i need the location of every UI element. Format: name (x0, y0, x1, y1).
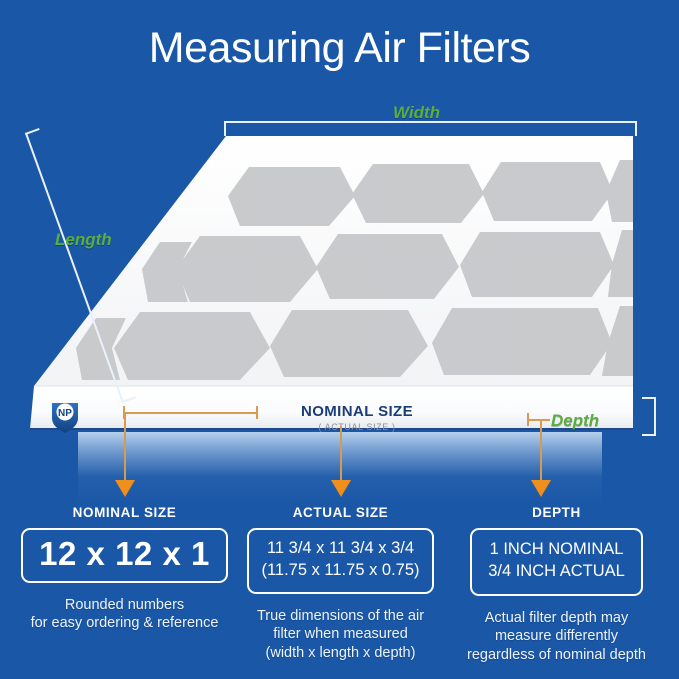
width-label: Width (393, 103, 440, 123)
column-actual-size: ACTUAL SIZE 11 3/4 x 11 3/4 x 3/4 (11.75… (233, 505, 448, 662)
nominal-size-value-line-1: 12 x 12 x 1 (39, 536, 210, 572)
actual-size-caption-line-3: (width x length x depth) (233, 644, 448, 663)
nominal-size-callout: NOMINAL SIZE ( ACTUAL SIZE ) (262, 403, 452, 432)
depth-caption-line-1: Actual filter depth may (444, 609, 669, 628)
filter-top-face (34, 136, 633, 386)
arrow-shaft-depth (540, 419, 542, 482)
nominal-size-caption-line-2: for easy ordering & reference (12, 614, 237, 633)
depth-value-line-2: 3/4 INCH ACTUAL (488, 561, 625, 583)
arrow-shaft-actual (340, 426, 342, 482)
nominal-size-callout-secondary: ( ACTUAL SIZE ) (262, 422, 452, 432)
arrow-shaft-nominal (124, 412, 126, 482)
depth-caption-line-3: regardless of nominal depth (444, 646, 669, 665)
arrow-head-actual (331, 480, 351, 497)
arrow-head-nominal (115, 480, 135, 497)
column-depth: DEPTH 1 INCH NOMINAL 3/4 INCH ACTUAL Act… (444, 505, 669, 664)
length-label: Length (55, 230, 112, 250)
width-bracket (224, 121, 637, 136)
actual-size-value-line-1: 11 3/4 x 11 3/4 x 3/4 (261, 538, 419, 560)
column-title-nominal: NOMINAL SIZE (12, 505, 237, 520)
nominal-size-caption: Rounded numbers for easy ordering & refe… (12, 596, 237, 633)
svg-text:NP: NP (58, 408, 72, 419)
column-title-actual: ACTUAL SIZE (233, 505, 448, 520)
nominal-size-value-box: 12 x 12 x 1 (21, 528, 228, 583)
page-title: Measuring Air Filters (0, 24, 679, 73)
depth-leader-cap (527, 413, 529, 426)
depth-leader-horizontal (528, 419, 550, 421)
depth-value-line-1: 1 INCH NOMINAL (488, 539, 625, 561)
column-nominal-size: NOMINAL SIZE 12 x 12 x 1 Rounded numbers… (12, 505, 237, 633)
nominal-size-caption-line-1: Rounded numbers (12, 596, 237, 615)
column-title-depth: DEPTH (444, 505, 669, 520)
actual-size-value-box: 11 3/4 x 11 3/4 x 3/4 (11.75 x 11.75 x 0… (247, 528, 433, 594)
np-shield-logo: NP (52, 403, 78, 433)
actual-size-value-line-2: (11.75 x 11.75 x 0.75) (261, 560, 419, 582)
infographic-canvas: Measuring Air Filters (0, 0, 679, 679)
actual-size-caption-line-1: True dimensions of the air (233, 607, 448, 626)
filter-pleat-media (76, 160, 648, 380)
nominal-leader-horizontal (124, 412, 258, 414)
actual-size-caption-line-2: filter when measured (233, 625, 448, 644)
length-bracket (25, 128, 136, 403)
depth-caption: Actual filter depth may measure differen… (444, 609, 669, 665)
depth-value-box: 1 INCH NOMINAL 3/4 INCH ACTUAL (470, 528, 643, 596)
depth-caption-line-2: measure differently (444, 627, 669, 646)
depth-label: Depth (551, 411, 599, 431)
arrow-head-depth (531, 480, 551, 497)
depth-bracket (642, 397, 656, 436)
actual-size-caption: True dimensions of the air filter when m… (233, 607, 448, 663)
nominal-size-callout-primary: NOMINAL SIZE (262, 403, 452, 420)
nominal-leader-right-cap (256, 406, 258, 419)
